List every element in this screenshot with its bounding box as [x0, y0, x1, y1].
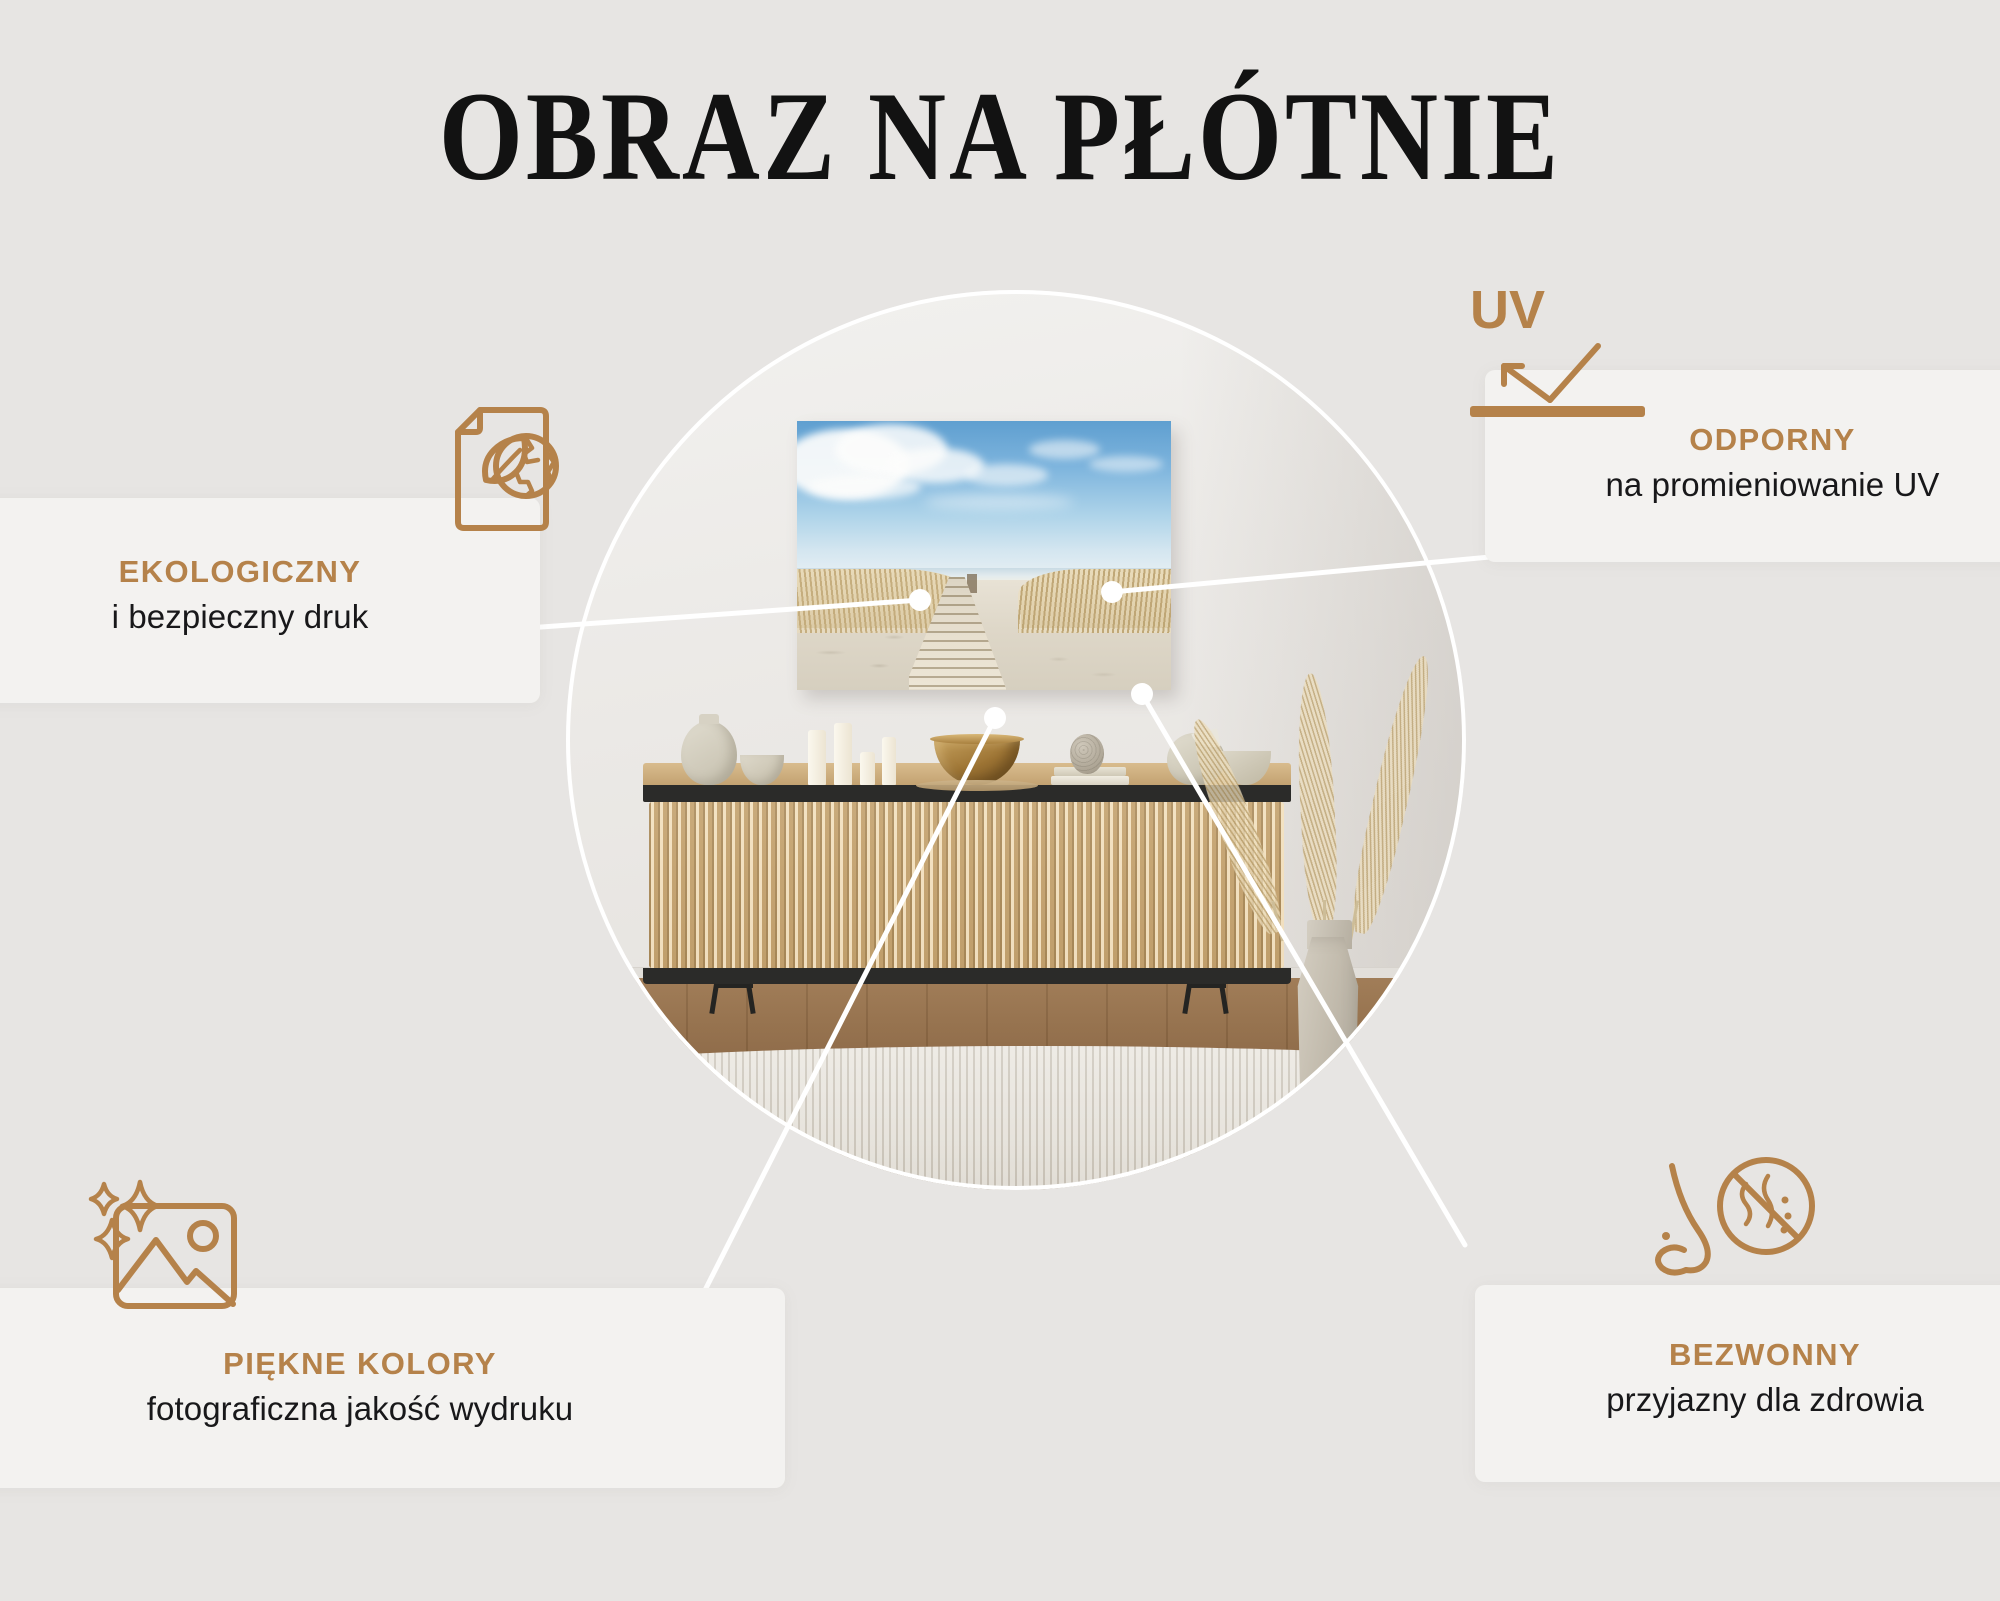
- cloud: [1029, 440, 1100, 459]
- page-title: OBRAZ NA PŁÓTNIE: [0, 74, 2000, 201]
- cloud: [924, 494, 1073, 510]
- eco-document-globe-leaf-icon: [428, 394, 578, 544]
- interior-room: [566, 290, 1466, 1190]
- feature-panel-odorless: BEZWONNY przyjazny dla zdrowia: [1475, 1285, 2000, 1482]
- feature-subtitle-uv: na promieniowanie UV: [1495, 466, 2000, 504]
- feature-subtitle-odorless: przyjazny dla zdrowia: [1485, 1381, 2000, 1419]
- pillar-candle: [860, 752, 875, 785]
- feature-title-odorless: BEZWONNY: [1485, 1337, 2000, 1373]
- photo-sparkle-icon: [72, 1178, 252, 1328]
- infographic-stage: OBRAZ NA PŁÓTNIE: [0, 0, 2000, 1601]
- stone-sphere: [1070, 734, 1104, 774]
- room-scene-circle: [566, 290, 1466, 1190]
- cloud: [809, 475, 921, 499]
- pillar-candle: [834, 723, 852, 785]
- tall-ceramic-vase: [1288, 937, 1368, 1127]
- cloud: [965, 464, 1047, 485]
- feature-title-colors: PIĘKNE KOLORY: [0, 1346, 730, 1382]
- pillar-candle: [808, 730, 826, 785]
- uv-label: UV: [1470, 280, 1545, 340]
- feature-title-eco: EKOLOGICZNY: [0, 554, 490, 590]
- sideboard-decor: [643, 763, 1291, 1015]
- feature-subtitle-colors: fotograficzna jakość wydruku: [0, 1390, 730, 1428]
- uv-resistance-icon: UV: [1470, 282, 1660, 432]
- wicker-basket: [566, 1051, 683, 1132]
- canvas-artwork-beach-boardwalk: [797, 421, 1171, 689]
- nose-no-smell-icon: [1650, 1150, 1825, 1300]
- round-ceramic-vase: [681, 721, 737, 785]
- small-ceramic-bowl: [740, 755, 784, 785]
- pampas-grass-vase: [1255, 722, 1408, 1127]
- basket-texture: [566, 1051, 683, 1132]
- feature-subtitle-eco: i bezpieczny druk: [0, 598, 490, 636]
- brass-bowl: [934, 738, 1020, 785]
- dune-grass-right: [1018, 569, 1171, 633]
- pillar-candle: [882, 737, 896, 785]
